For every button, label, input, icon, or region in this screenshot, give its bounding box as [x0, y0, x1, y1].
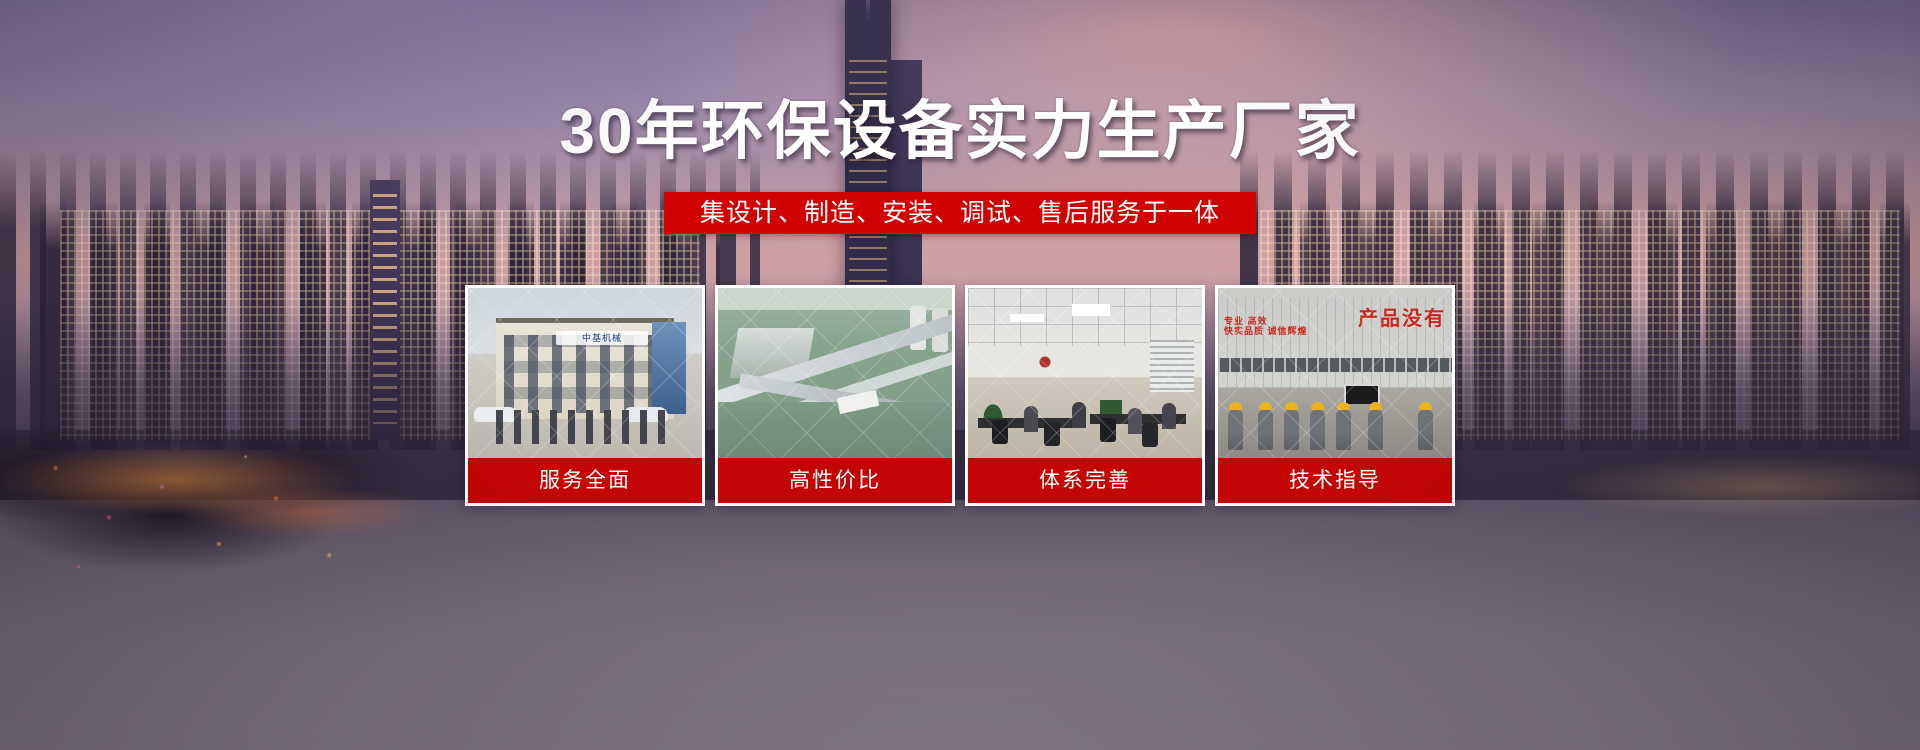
- feature-card[interactable]: 专业 高效快实品质 诚信辉煌 产品没有 技术指导: [1215, 285, 1455, 506]
- feature-card-list: 中基机械 服务全面 高性价比: [465, 285, 1455, 506]
- feature-card[interactable]: 体系完善: [965, 285, 1205, 506]
- hero-banner: 30年环保设备实力生产厂家 集设计、制造、安装、调试、售后服务于一体 中基机械 …: [0, 0, 1920, 750]
- company-office-building-photo: 中基机械: [468, 288, 702, 458]
- banner-subtitle-bar: 集设计、制造、安装、调试、售后服务于一体: [664, 192, 1256, 234]
- feature-card-label: 技术指导: [1218, 458, 1452, 503]
- feature-card-label: 体系完善: [968, 458, 1202, 503]
- factory-workers-photo: 专业 高效快实品质 诚信辉煌 产品没有: [1218, 288, 1452, 458]
- building-sign-label: 中基机械: [556, 331, 648, 345]
- aerial-plant-equipment-photo: [718, 288, 952, 458]
- feature-card-label: 服务全面: [468, 458, 702, 503]
- factory-slogan-text: 产品没有: [1358, 302, 1446, 331]
- feature-card-label: 高性价比: [718, 458, 952, 503]
- feature-card[interactable]: 高性价比: [715, 285, 955, 506]
- office-interior-staff-photo: [968, 288, 1202, 458]
- banner-headline: 30年环保设备实力生产厂家: [0, 99, 1920, 163]
- factory-slogan-small: 专业 高效快实品质 诚信辉煌: [1224, 316, 1308, 336]
- feature-card[interactable]: 中基机械 服务全面: [465, 285, 705, 506]
